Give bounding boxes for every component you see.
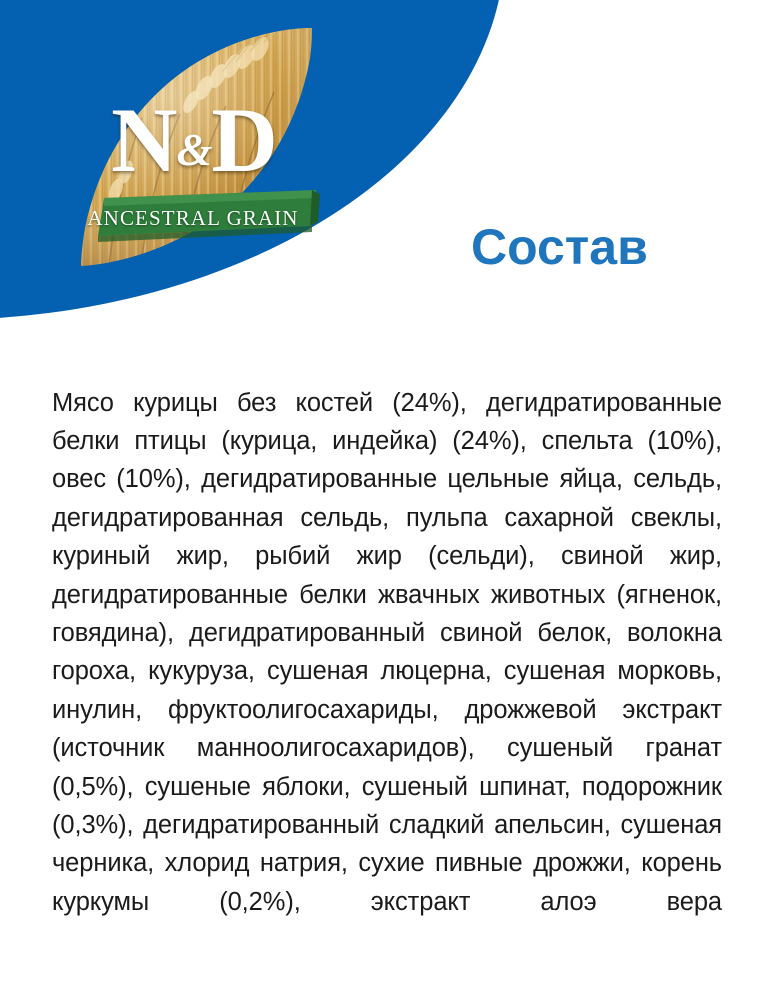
page-title: Состав: [471, 222, 648, 272]
leaf-logo-icon: [68, 22, 320, 270]
ancestral-grain-ribbon: [98, 190, 320, 242]
ingredients-text: Мясо курицы без костей (24%), дегидратир…: [52, 384, 722, 960]
composition-page: N&D ANCESTRAL GRAIN Состав Мясо курицы б…: [0, 0, 773, 1000]
brand-logo: N&D ANCESTRAL GRAIN: [68, 22, 320, 270]
